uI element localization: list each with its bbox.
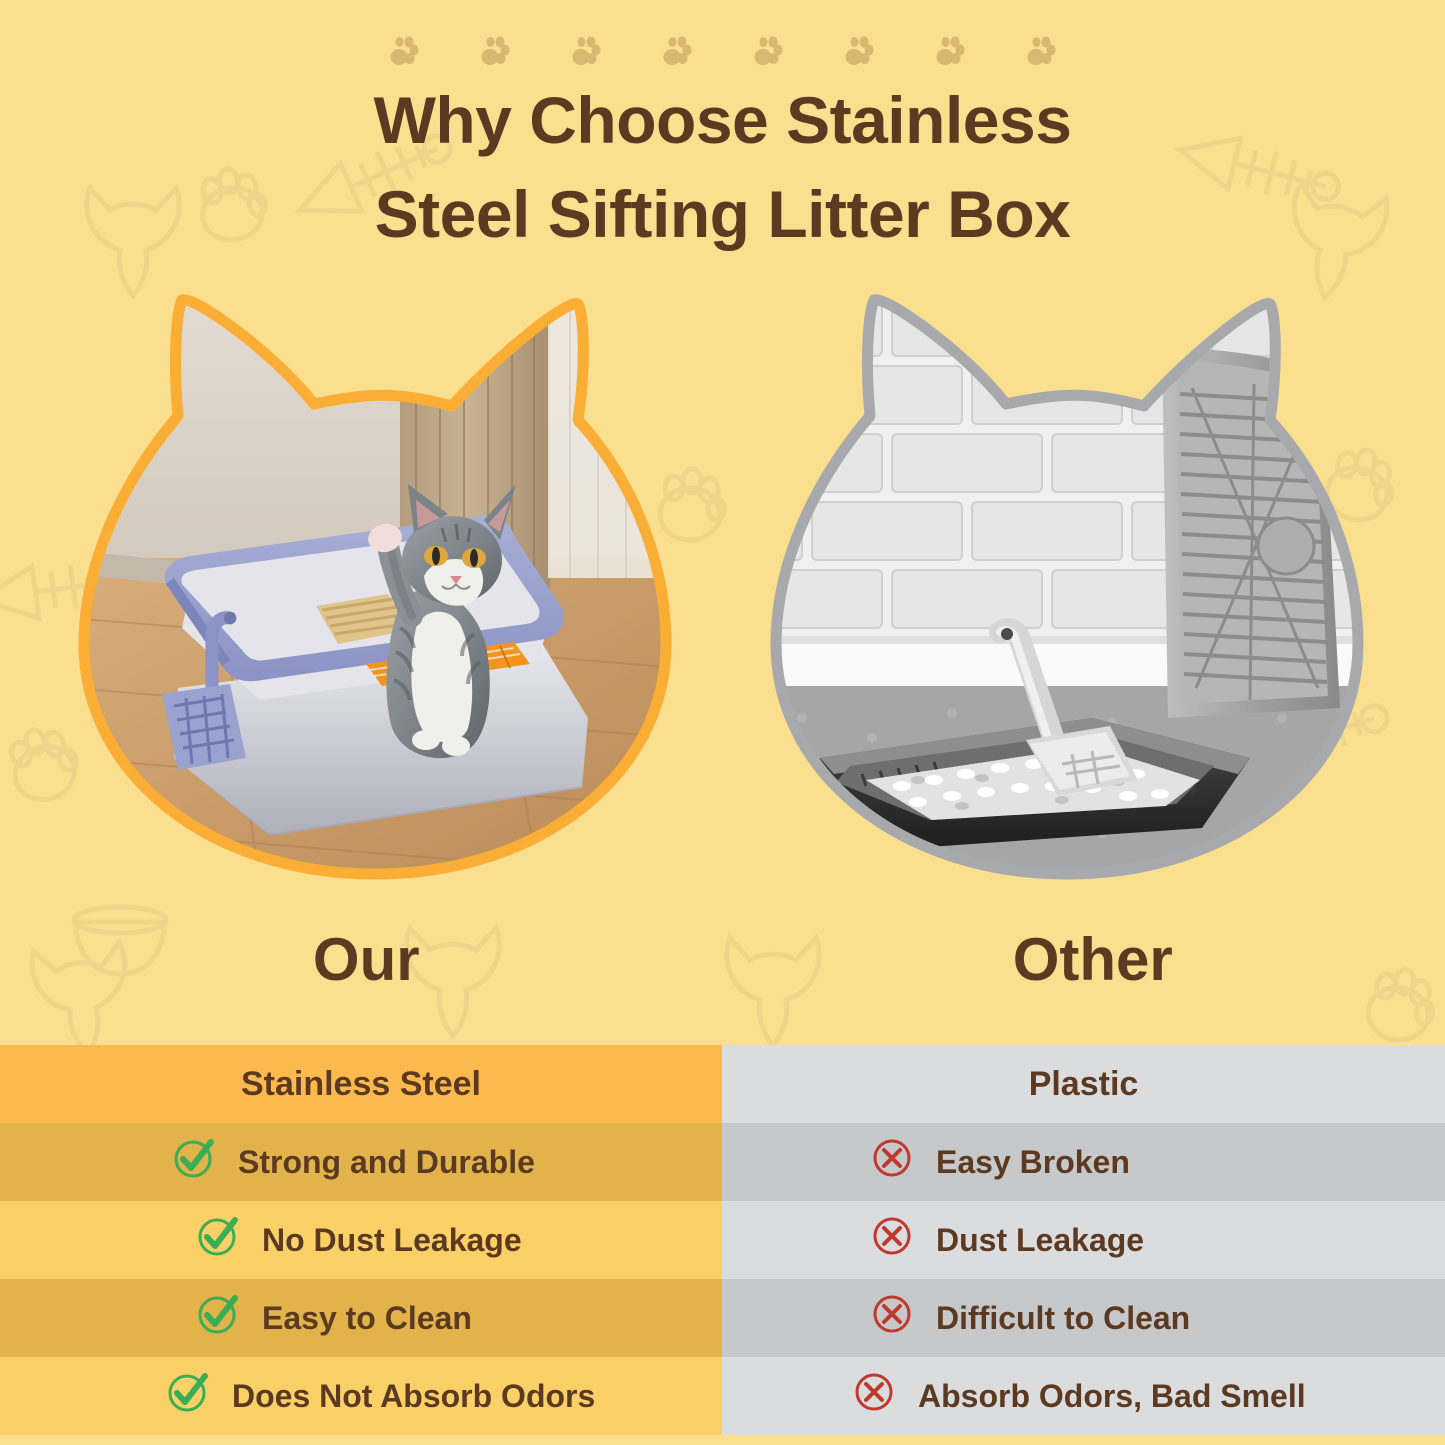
paw-print-icon	[1025, 36, 1057, 71]
table-cell-label: No Dust Leakage	[262, 1222, 522, 1259]
paw-print-decoration-strip	[0, 36, 1445, 71]
caption-our: Our	[0, 930, 723, 1045]
table-cell-label: Absorb Odors, Bad Smell	[918, 1378, 1306, 1415]
cross-circle-icon	[870, 1136, 914, 1188]
paw-print-icon	[934, 36, 966, 71]
check-circle-icon	[196, 1292, 240, 1344]
column-captions: Our Other	[0, 930, 1445, 1045]
table-row: Strong and Durable Easy Broken	[0, 1123, 1445, 1201]
table-cell-plastic: Dust Leakage	[722, 1201, 1445, 1279]
comparison-image-panels	[0, 288, 1445, 888]
check-circle-icon	[166, 1370, 210, 1422]
table-cell-label: Easy to Clean	[262, 1300, 472, 1337]
paw-print-icon	[843, 36, 875, 71]
cross-circle-icon	[870, 1214, 914, 1266]
caption-other: Other	[723, 930, 1445, 1045]
paw-print-icon	[752, 36, 784, 71]
table-cell-label: Easy Broken	[936, 1144, 1130, 1181]
paw-print-icon	[388, 36, 420, 71]
page-title: Why Choose Stainless Steel Sifting Litte…	[0, 74, 1445, 261]
cross-circle-icon	[870, 1292, 914, 1344]
table-cell-stainless-steel: Does Not Absorb Odors	[0, 1357, 722, 1435]
cross-circle-icon	[852, 1370, 896, 1422]
table-row: No Dust Leakage Dust Leakage	[0, 1201, 1445, 1279]
table-body: Strong and Durable Easy Broken No Dust L…	[0, 1123, 1445, 1435]
table-cell-stainless-steel: No Dust Leakage	[0, 1201, 722, 1279]
table-cell-label: Strong and Durable	[238, 1144, 535, 1181]
table-cell-label: Difficult to Clean	[936, 1300, 1190, 1337]
check-circle-icon	[172, 1136, 216, 1188]
table-cell-plastic: Difficult to Clean	[722, 1279, 1445, 1357]
page-title-line-1: Why Choose Stainless	[374, 83, 1072, 157]
page-title-line-2: Steel Sifting Litter Box	[375, 177, 1071, 251]
table-cell-label: Does Not Absorb Odors	[232, 1378, 595, 1415]
paw-print-icon	[570, 36, 602, 71]
table-header-row: Stainless Steel Plastic	[0, 1045, 1445, 1123]
comparison-table: Stainless Steel Plastic Strong and Durab…	[0, 1045, 1445, 1435]
table-row: Does Not Absorb Odors Absorb Odors, Bad …	[0, 1357, 1445, 1435]
table-cell-plastic: Absorb Odors, Bad Smell	[722, 1357, 1445, 1435]
table-cell-stainless-steel: Easy to Clean	[0, 1279, 722, 1357]
table-row: Easy to Clean Difficult to Clean	[0, 1279, 1445, 1357]
table-cell-stainless-steel: Strong and Durable	[0, 1123, 722, 1201]
paw-print-icon	[661, 36, 693, 71]
paw-print-icon	[479, 36, 511, 71]
table-cell-label: Dust Leakage	[936, 1222, 1144, 1259]
table-header-stainless-steel: Stainless Steel	[0, 1045, 722, 1123]
table-cell-plastic: Easy Broken	[722, 1123, 1445, 1201]
panel-other-product-image	[762, 288, 1372, 888]
panel-our-product-image	[70, 288, 680, 888]
check-circle-icon	[196, 1214, 240, 1266]
table-header-plastic: Plastic	[722, 1045, 1445, 1123]
